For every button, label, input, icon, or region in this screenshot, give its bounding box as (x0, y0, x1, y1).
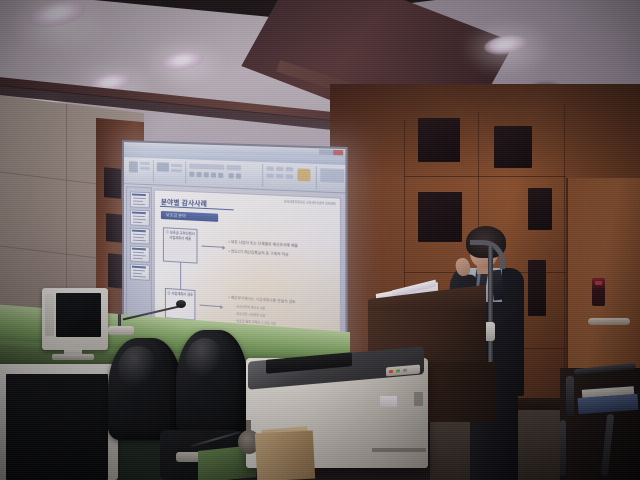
align-center-icon[interactable] (276, 174, 283, 178)
reset-icon[interactable] (171, 169, 182, 172)
thumb-line (133, 240, 146, 242)
slide-thumbnail[interactable] (130, 209, 150, 226)
chair-1 (108, 338, 182, 440)
slide-thumbnail[interactable] (130, 191, 150, 208)
thumb-title-bar (132, 230, 146, 233)
thumb-line (133, 276, 146, 278)
cardboard-box (255, 431, 315, 480)
slide-body-line-2: • 연도2기 예산집행실적 등 구체적 작성 (229, 248, 289, 257)
bullets-icon[interactable] (266, 166, 273, 170)
new-slide-icon[interactable] (157, 162, 169, 172)
thumb-line (133, 219, 146, 221)
ribbon-group-clipboard[interactable] (127, 159, 154, 182)
stacked-chair-leg-3 (560, 420, 566, 476)
right-wall-seam-4 (404, 176, 566, 177)
printer-label (380, 396, 397, 407)
monitor-back-base (52, 354, 94, 360)
bold-icon[interactable] (189, 172, 194, 177)
thumb-line (133, 222, 142, 223)
thumb-line (133, 273, 142, 275)
thumb-title-bar (132, 248, 146, 251)
align-left-icon[interactable] (266, 174, 273, 178)
printer-vent-icon (414, 392, 423, 406)
font-size-box[interactable] (226, 165, 241, 171)
ribbon-group-font[interactable] (187, 161, 263, 187)
flow-arrow-1 (202, 246, 225, 248)
right-wall-panel-dark-5 (528, 260, 546, 316)
numbering-icon[interactable] (276, 167, 283, 171)
printer-error-led-icon (389, 370, 393, 373)
thumb-line (133, 201, 143, 202)
slide-body-line-3: • 예산부서에서는 사업계획서를 면밀히 검토 (229, 294, 296, 304)
right-wall-panel-dark-4 (528, 188, 552, 230)
thumb-title-bar (132, 211, 146, 214)
indent-icon[interactable] (286, 167, 294, 171)
ribbon-group-slides[interactable] (155, 160, 186, 183)
font-name-box[interactable] (189, 163, 224, 169)
flow-connector (180, 263, 181, 289)
left-niche-2 (106, 213, 123, 243)
thumb-line (133, 204, 145, 206)
monitor-back-screen (56, 293, 101, 337)
shadow-icon[interactable] (211, 172, 216, 177)
font-color-icon[interactable] (229, 173, 234, 178)
ribbon-group-paragraph[interactable] (264, 164, 317, 189)
align-right-icon[interactable] (286, 174, 294, 178)
slide-corner-note: 감사사례 발표자료 교육과학기술부 감사관실 (284, 200, 336, 206)
thumb-line (133, 252, 144, 254)
slide-section-label: 보조금 분야 (166, 212, 186, 219)
slide-section-bar: 보조금 분야 (161, 211, 218, 222)
flow-box-1: ① 보조금 교부신청서 사업계획서 제출 (163, 227, 198, 263)
door-handle[interactable] (588, 318, 630, 325)
slide-thumbnail[interactable] (130, 245, 150, 262)
right-wall-panel-dark-3 (418, 192, 462, 242)
printer-paper-slot (372, 448, 426, 452)
monitor-back-side-bezel (45, 294, 54, 336)
thumb-line (133, 258, 143, 260)
thumb-title-bar (132, 193, 146, 196)
slide-sub-line: - 보조사업의 목적과 내용 (235, 304, 266, 311)
right-wall-panel-dark-1 (418, 118, 460, 162)
right-wall-seam-3 (564, 104, 565, 408)
left-niche-1 (104, 167, 121, 199)
thumb-title-bar (132, 266, 146, 269)
monitor-back (42, 288, 108, 350)
right-wall-panel-dark-2 (494, 126, 532, 168)
layout-icon[interactable] (171, 164, 182, 167)
ribbon-group-drawing[interactable] (318, 166, 345, 191)
slide-body-line-1: • 보조 사업자 또는 단체별로 예산부서에 제출 (229, 239, 298, 248)
char-spacing-icon[interactable] (236, 173, 241, 178)
slide-thumbnail[interactable] (130, 227, 150, 244)
copy-icon[interactable] (140, 167, 150, 170)
card-reader-led-icon (595, 281, 602, 285)
italic-icon[interactable] (196, 172, 201, 177)
printer-ready-led-icon (396, 369, 400, 372)
lecture-room-photo: 분야별 감사사례 감사사례 발표자료 교육과학기술부 감사관실 보조금 분야 ①… (0, 0, 640, 480)
thumb-line (133, 234, 146, 236)
cut-icon[interactable] (140, 162, 150, 165)
thumb-line (133, 216, 145, 218)
chair-2 (176, 330, 248, 436)
monitor-front (0, 364, 118, 480)
monitor-front-screen (6, 374, 108, 480)
thumb-line (133, 197, 146, 199)
stacked-chair-leg-1 (566, 376, 574, 416)
slide-sub-line: - 보조사업 시행계획 사항 (235, 311, 266, 318)
printer-power-button[interactable] (403, 369, 407, 372)
chair-2-highlight (186, 338, 224, 380)
paste-icon[interactable] (129, 161, 138, 172)
desk-microphone-base (108, 326, 134, 335)
window-controls-icon[interactable] (319, 149, 343, 155)
shapes-gallery-icon[interactable] (320, 168, 344, 183)
thumb-line (133, 270, 145, 272)
strikethrough-icon[interactable] (218, 173, 223, 178)
flow-arrow-2 (200, 305, 223, 308)
desk-microphone-capsule (176, 300, 186, 308)
thumb-line (133, 255, 146, 257)
thumb-line (133, 237, 144, 239)
slide-thumbnail[interactable] (130, 263, 150, 280)
smartart-icon[interactable] (297, 168, 310, 181)
underline-icon[interactable] (204, 172, 209, 177)
chair-1-highlight (118, 346, 158, 390)
